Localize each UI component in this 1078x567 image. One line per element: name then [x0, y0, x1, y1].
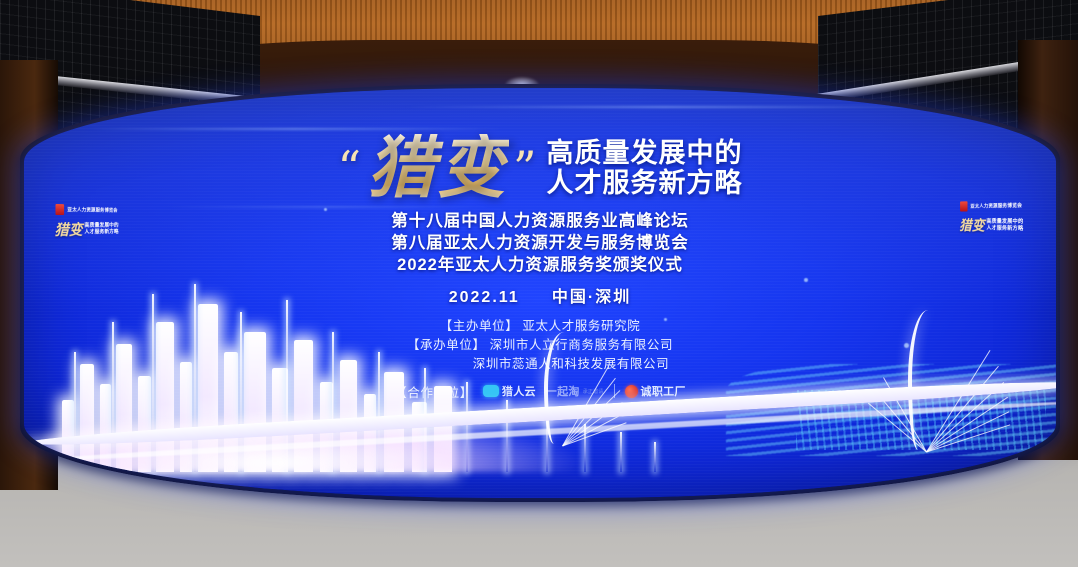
led-screen: “ 猎变 ” 高质量发展中的 人才服务新方略 第十八届中国人力资源服务业高峰论坛… — [24, 88, 1056, 498]
mini-poster-keyword: 猎变 — [55, 219, 83, 240]
mini-poster-keyword: 猎变 — [959, 215, 984, 235]
close-quote: ” — [513, 145, 537, 191]
seal-icon — [960, 201, 967, 211]
open-quote: “ — [337, 145, 361, 191]
poster-title-row: “ 猎变 ” 高质量发展中的 人才服务新方略 — [24, 134, 1056, 202]
mini-line-1: 高质量发展中的 — [84, 223, 118, 230]
mini-poster-body: 猎变 高质量发展中的 人才服务新方略 — [953, 215, 1032, 236]
bridge-graphic — [24, 268, 1056, 498]
poster-keyword: 猎变 — [365, 134, 509, 202]
headline-line-1: 高质量发展中的 — [547, 138, 743, 168]
mini-poster-body: 猎变 高质量发展中的 人才服务新方略 — [47, 219, 126, 240]
headline-line-2: 人才服务新方略 — [547, 168, 743, 198]
subtitle-line-1: 第十八届中国人力资源服务业高峰论坛 — [24, 211, 1056, 233]
mini-poster-header: 亚太人力资源服务博览会 — [47, 204, 126, 216]
mini-poster-lines: 高质量发展中的 人才服务新方略 — [986, 219, 1023, 233]
poster-subtitles: 第十八届中国人力资源服务业高峰论坛 第八届亚太人力资源开发与服务博览会 2022… — [24, 211, 1056, 276]
mini-line-1: 高质量发展中的 — [986, 219, 1023, 226]
mini-poster-header: 亚太人力资源服务博览会 — [953, 200, 1032, 212]
photo-scene: “ 猎变 ” 高质量发展中的 人才服务新方略 第十八届中国人力资源服务业高峰论坛… — [0, 0, 1078, 567]
mini-poster-lines: 高质量发展中的 人才服务新方略 — [84, 223, 118, 236]
mini-poster-header-text: 亚太人力资源服务博览会 — [67, 206, 117, 213]
light-streak — [404, 106, 924, 108]
mini-line-2: 人才服务新方略 — [84, 229, 118, 236]
mini-poster-left: 亚太人力资源服务博览会 猎变 高质量发展中的 人才服务新方略 — [47, 204, 126, 240]
mini-poster-header-text: 亚太人力资源服务博览会 — [970, 202, 1022, 210]
mini-poster-right: 亚太人力资源服务博览会 猎变 高质量发展中的 人才服务新方略 — [953, 200, 1032, 236]
bridge-pylon-right — [908, 310, 958, 450]
mini-line-2: 人才服务新方略 — [986, 225, 1023, 232]
seal-icon — [56, 204, 65, 215]
poster-headline: 高质量发展中的 人才服务新方略 — [547, 138, 743, 198]
subtitle-line-2: 第八届亚太人力资源开发与服务博览会 — [24, 233, 1056, 255]
